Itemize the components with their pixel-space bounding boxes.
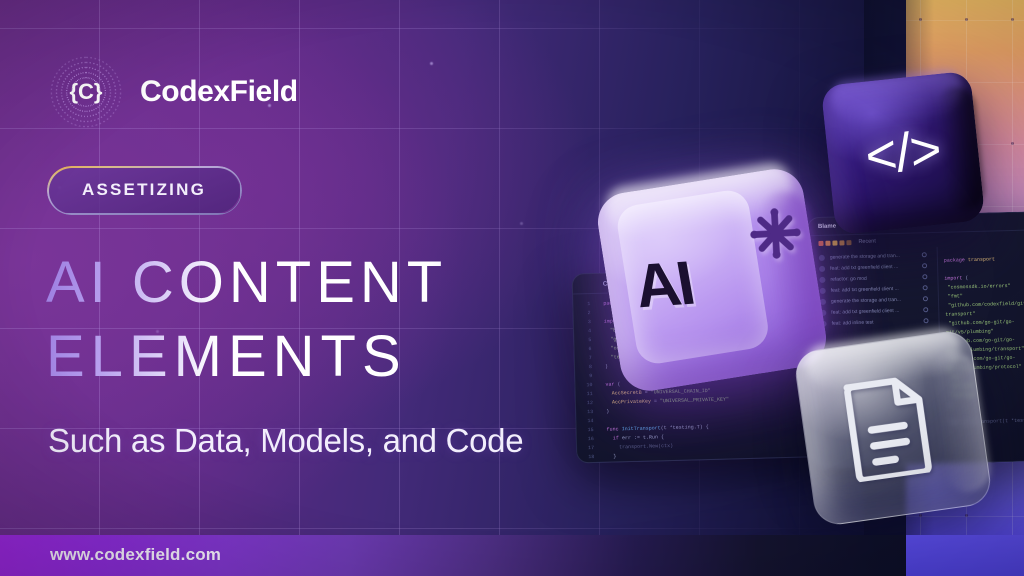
background-speck xyxy=(430,62,433,65)
website-url[interactable]: www.codexfield.com xyxy=(50,545,221,565)
copy-icon xyxy=(923,296,928,301)
headline-line-1: AI CONTENT xyxy=(46,246,566,320)
subtitle: Such as Data, Models, and Code xyxy=(48,422,523,460)
document-lines-icon xyxy=(831,370,944,485)
brand-name: CodexField xyxy=(140,75,298,109)
headline-line-2: ELEMENTS xyxy=(46,320,566,394)
sparkle-asterisk-icon xyxy=(746,204,805,263)
copy-icon xyxy=(923,285,928,290)
brand-logo-row[interactable]: {C} CodexField xyxy=(50,56,298,128)
assetizing-badge[interactable]: ASSETIZING xyxy=(48,167,240,213)
code-cube: </> xyxy=(821,71,986,236)
footer-strip-cap xyxy=(906,535,1024,576)
ai-cube-label: AI xyxy=(629,248,697,322)
copy-icon xyxy=(922,274,927,279)
copy-icon xyxy=(922,263,927,268)
copy-icon xyxy=(922,252,927,257)
document-cube xyxy=(793,328,994,527)
background-speck xyxy=(520,222,523,225)
logo-glyph: {C} xyxy=(50,56,122,128)
promo-banner: Code Blame 123456 789101112 131415161718… xyxy=(0,0,1024,576)
page-title: AI CONTENT ELEMENTS xyxy=(46,246,566,394)
copy-icon xyxy=(923,318,928,323)
commit-bar-label: Recent xyxy=(858,239,876,245)
copy-icon xyxy=(923,307,928,312)
codexfield-dotted-halo-icon: {C} xyxy=(50,56,122,128)
